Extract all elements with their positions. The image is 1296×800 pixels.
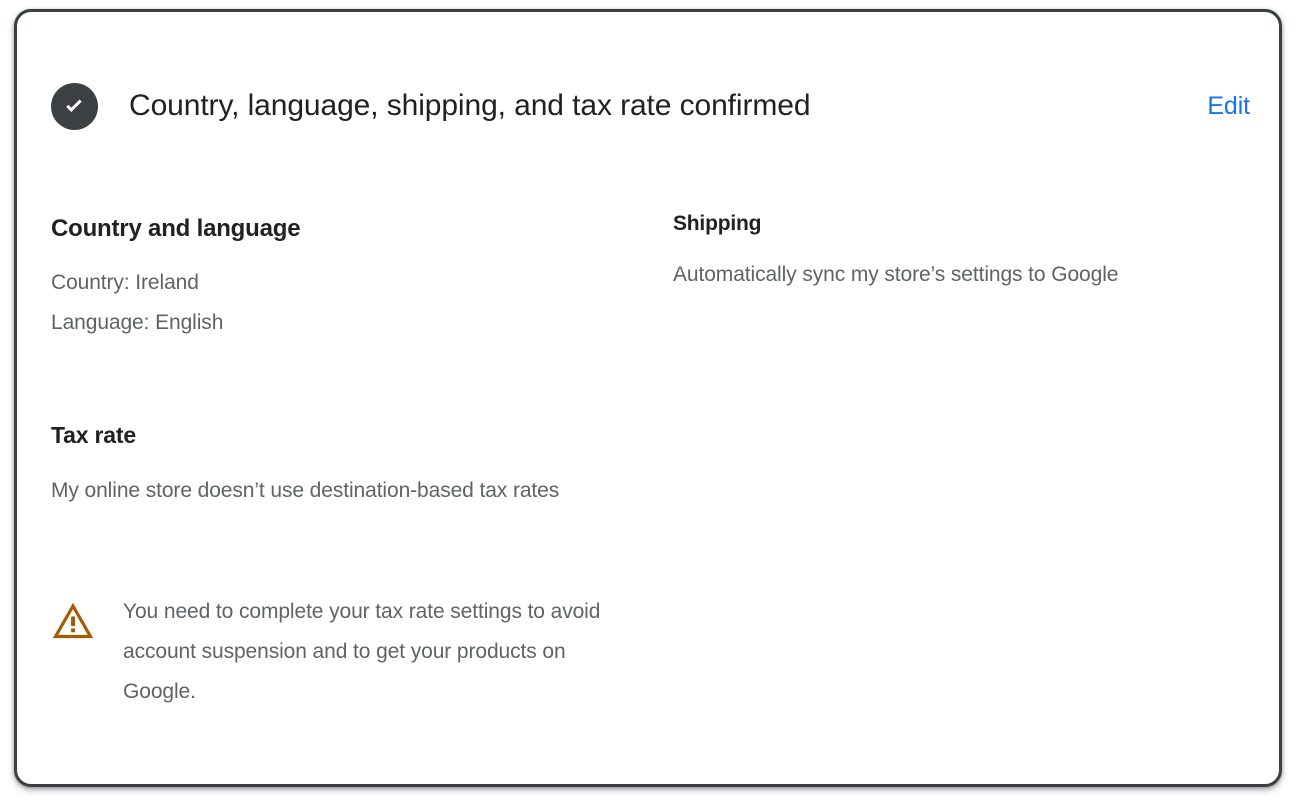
- shipping-heading: Shipping: [673, 210, 1213, 238]
- tax-rate-value: My online store doesn’t use destination-…: [51, 471, 581, 511]
- tax-rate-section: Tax rate My online store doesn’t use des…: [51, 420, 611, 511]
- shipping-section: Shipping Automatically sync my store’s s…: [673, 210, 1213, 295]
- card-header: Country, language, shipping, and tax rat…: [17, 12, 1279, 172]
- language-value: Language: English: [51, 311, 223, 334]
- edit-button[interactable]: Edit: [1207, 89, 1250, 123]
- confirmation-card: Country, language, shipping, and tax rat…: [14, 9, 1282, 787]
- shipping-value: Automatically sync my store’s settings t…: [673, 254, 1213, 295]
- tax-rate-warning: You need to complete your tax rate setti…: [51, 592, 611, 712]
- country-value: Country: Ireland: [51, 271, 199, 294]
- country-and-language-values: Country: Ireland Language: English: [51, 263, 651, 343]
- warning-triangle-icon: [51, 603, 95, 643]
- country-and-language-section: Country and language Country: Ireland La…: [51, 213, 651, 343]
- page-title: Country, language, shipping, and tax rat…: [129, 85, 1129, 127]
- page-root: Country, language, shipping, and tax rat…: [0, 0, 1296, 800]
- tax-rate-heading: Tax rate: [51, 420, 611, 450]
- card-body: Country and language Country: Ireland La…: [17, 172, 1279, 784]
- country-and-language-heading: Country and language: [51, 213, 651, 245]
- tax-rate-warning-text: You need to complete your tax rate setti…: [123, 592, 611, 712]
- check-circle-icon: [51, 83, 98, 130]
